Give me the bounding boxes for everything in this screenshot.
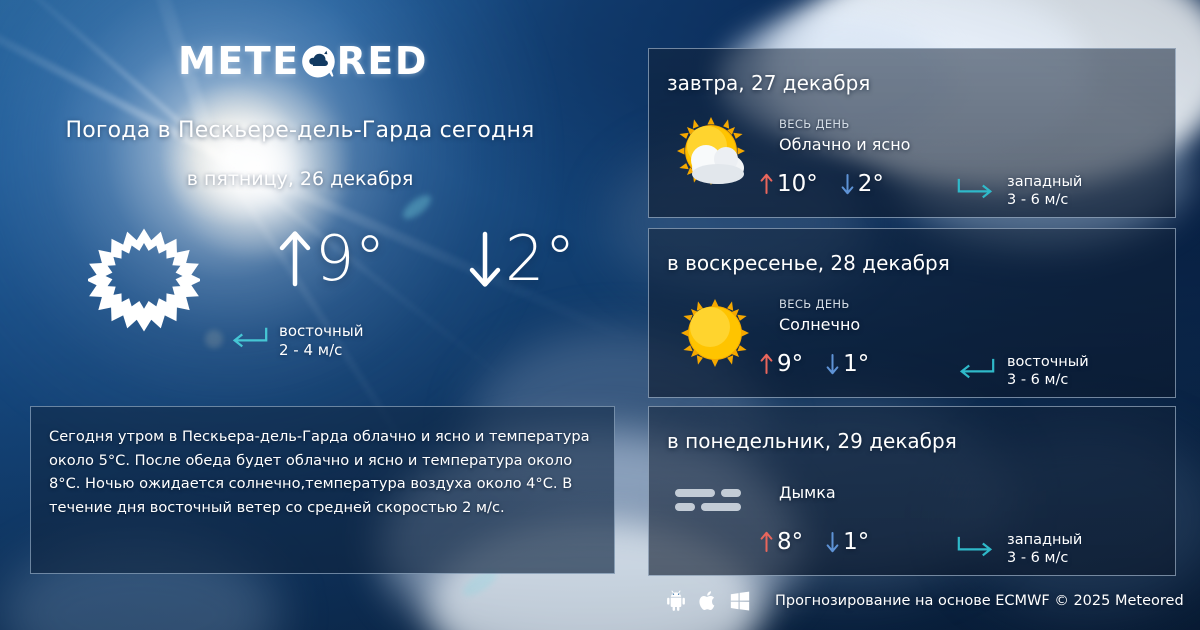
forecast-wind-speed: 3 - 6 м/с [1007, 371, 1089, 389]
forecast-wind-speed: 3 - 6 м/с [1007, 549, 1082, 567]
forecast-period: ВЕСЬ ДЕНЬ [779, 117, 850, 131]
today-wind-direction: восточный [279, 322, 363, 341]
today-description-box: Сегодня утром в Пескьера-дель-Гарда обла… [30, 406, 615, 574]
meteored-cloud-logo-icon [301, 44, 336, 79]
today-wind-text: восточный 2 - 4 м/с [279, 322, 363, 360]
today-min-temp: 2° [465, 228, 575, 290]
forecast-date: в понедельник, 29 декабря [667, 429, 957, 453]
forecast-condition: Солнечно [779, 315, 860, 334]
arrow-up-icon [759, 530, 774, 554]
forecast-min-value: 2° [858, 171, 884, 197]
mist-icon [671, 477, 759, 559]
footer: Прогнозирование на основе ECMWF © 2025 M… [665, 590, 1184, 612]
forecast-min-value: 1° [843, 529, 869, 555]
forecast-max-value: 9° [777, 351, 803, 377]
forecast-wind-text: восточный 3 - 6 м/с [1007, 353, 1089, 389]
forecast-min-temp: 2° [840, 171, 884, 197]
forecast-date: завтра, 27 декабря [667, 71, 870, 95]
forecast-min-value: 1° [843, 351, 869, 377]
forecast-temps: 8° 1° [759, 529, 869, 555]
today-max-temp: 9° [275, 228, 385, 290]
forecast-max-temp: 8° [759, 529, 803, 555]
forecast-temps: 10° 2° [759, 171, 884, 197]
forecast-wind-direction: западный [1007, 531, 1082, 549]
today-min-value: 2° [505, 228, 575, 290]
arrow-up-icon [275, 228, 315, 290]
meteored-logo[interactable]: METE RED [178, 42, 428, 80]
forecast-wind-direction: восточный [1007, 353, 1089, 371]
wind-arrow-east-icon [955, 357, 997, 386]
arrow-up-icon [759, 352, 774, 376]
forecast-max-value: 10° [777, 171, 818, 197]
logo-text-part1: METE [178, 42, 300, 80]
android-icon[interactable] [665, 590, 687, 612]
forecast-wind: восточный 3 - 6 м/с [955, 353, 1089, 389]
forecast-wind-speed: 3 - 6 м/с [1007, 191, 1082, 209]
forecast-card-tomorrow[interactable]: завтра, 27 декабря [648, 48, 1176, 218]
arrow-down-icon [825, 530, 840, 554]
forecast-card-sunday[interactable]: в воскресенье, 28 декабря [648, 228, 1176, 398]
today-description-text: Сегодня утром в Пескьера-дель-Гарда обла… [49, 425, 594, 520]
arrow-down-icon [825, 352, 840, 376]
forecast-max-temp: 10° [759, 171, 818, 197]
forecast-condition: Облачно и ясно [779, 135, 910, 154]
wind-arrow-east-icon [228, 326, 270, 355]
sun-behind-cloud-icon [671, 113, 759, 195]
arrow-down-icon [465, 228, 505, 290]
forecast-temps: 9° 1° [759, 351, 869, 377]
forecast-condition: Дымка [779, 483, 836, 502]
forecast-wind-direction: западный [1007, 173, 1082, 191]
forecast-period: ВЕСЬ ДЕНЬ [779, 297, 850, 311]
wind-arrow-west-icon [955, 177, 997, 206]
arrow-down-icon [840, 172, 855, 196]
forecast-wind: западный 3 - 6 м/с [955, 531, 1082, 567]
footer-text: Прогнозирование на основе ECMWF © 2025 M… [775, 593, 1184, 609]
apple-icon[interactable] [697, 590, 719, 612]
forecast-wind-text: западный 3 - 6 м/с [1007, 173, 1082, 209]
sun-outline-icon [88, 224, 200, 336]
arrow-up-icon [759, 172, 774, 196]
windows-icon[interactable] [729, 590, 751, 612]
forecast-max-temp: 9° [759, 351, 803, 377]
logo-wordmark: METE RED [178, 42, 428, 80]
today-wind-speed: 2 - 4 м/с [279, 341, 363, 360]
forecast-wind-text: западный 3 - 6 м/с [1007, 531, 1082, 567]
forecast-min-temp: 1° [825, 529, 869, 555]
forecast-max-value: 8° [777, 529, 803, 555]
wind-arrow-west-icon [955, 535, 997, 564]
forecast-date: в воскресенье, 28 декабря [667, 251, 950, 275]
sun-icon [671, 293, 759, 375]
forecast-card-monday[interactable]: в понедельник, 29 декабря Дымка [648, 406, 1176, 576]
page-title: Погода в Пескьере-дель-Гарда сегодня [0, 118, 600, 143]
today-wind: восточный 2 - 4 м/с [228, 322, 363, 360]
forecast-min-temp: 1° [825, 351, 869, 377]
today-date: в пятницу, 26 декабря [0, 168, 600, 190]
forecast-wind: западный 3 - 6 м/с [955, 173, 1082, 209]
logo-text-part2: RED [337, 42, 428, 80]
today-max-value: 9° [315, 228, 385, 290]
